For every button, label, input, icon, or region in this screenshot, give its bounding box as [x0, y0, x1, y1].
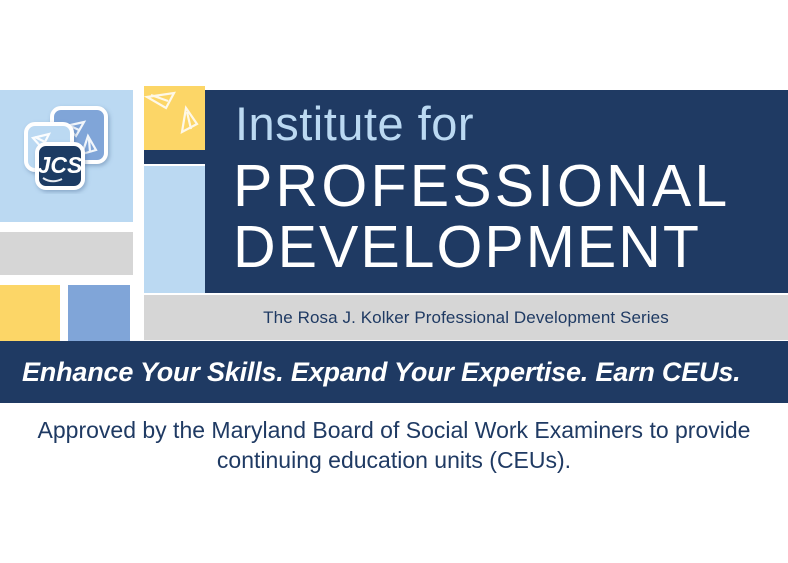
professional-development-banner: Institute for PROFESSIONAL DEVELOPMENT T… — [0, 0, 788, 563]
gray-bar-left — [0, 232, 133, 275]
tagline-band: Enhance Your Skills. Expand Your Experti… — [0, 341, 788, 403]
medium-blue-tile-bottom — [68, 285, 130, 341]
leaf-motif-icon — [144, 86, 205, 150]
navy-strip-middle — [144, 150, 205, 164]
page-title-line-2: DEVELOPMENT — [233, 217, 778, 278]
jcs-logo-text: JCS — [38, 152, 83, 178]
yellow-tile-bottom-left — [0, 285, 60, 341]
yellow-leaf-tile — [144, 86, 205, 150]
light-blue-column — [144, 166, 205, 293]
page-title-line-1: PROFESSIONAL — [233, 156, 778, 217]
jcs-logo-icon: JCS — [16, 100, 114, 194]
series-label: The Rosa J. Kolker Professional Developm… — [263, 308, 669, 328]
page-title: PROFESSIONAL DEVELOPMENT — [233, 156, 778, 278]
eyebrow-institute-for: Institute for — [235, 100, 474, 147]
tagline-text: Enhance Your Skills. Expand Your Experti… — [0, 357, 740, 388]
approval-statement: Approved by the Maryland Board of Social… — [0, 415, 788, 476]
series-bar: The Rosa J. Kolker Professional Developm… — [144, 295, 788, 340]
jcs-logo: JCS — [16, 100, 114, 194]
